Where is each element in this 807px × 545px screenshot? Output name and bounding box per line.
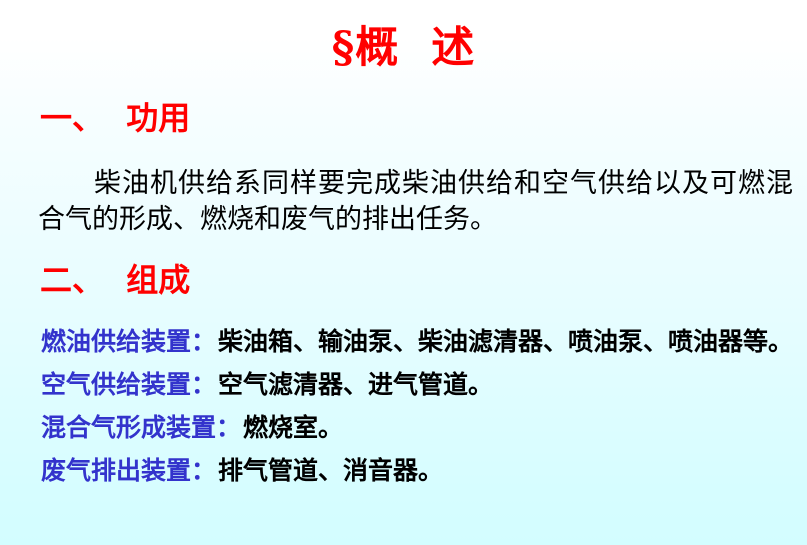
section-heading-function: 一、 功用 [40,101,190,136]
list-item: 燃油供给装置：柴油箱、输油泵、柴油滤清器、喷油泵、喷油器等。 [41,326,799,369]
slide-canvas: §概 述 一、 功用 柴油机供给系同样要完成柴油供给和空气供给以及可燃混合气的形… [0,0,807,545]
component-label-air-supply: 空气供给装置： [41,370,216,399]
section-heading-composition: 二、 组成 [40,263,190,298]
component-value-exhaust-discharge: 排气管道、消音器。 [218,456,443,485]
slide-title: §概 述 [0,26,807,71]
list-item: 空气供给装置：空气滤清器、进气管道。 [41,369,799,412]
component-value-mixture-formation: 燃烧室。 [243,413,343,442]
component-list: 燃油供给装置：柴油箱、输油泵、柴油滤清器、喷油泵、喷油器等。 空气供给装置：空气… [41,326,799,498]
component-label-fuel-supply: 燃油供给装置： [41,327,216,356]
list-item: 废气排出装置：排气管道、消音器。 [41,455,799,498]
list-item: 混合气形成装置：燃烧室。 [41,412,799,455]
function-description-paragraph: 柴油机供给系同样要完成柴油供给和空气供给以及可燃混合气的形成、燃烧和废气的排出任… [38,166,793,237]
component-value-fuel-supply: 柴油箱、输油泵、柴油滤清器、喷油泵、喷油器等。 [218,327,793,356]
component-label-mixture-formation: 混合气形成装置： [41,413,241,442]
component-label-exhaust-discharge: 废气排出装置： [41,456,216,485]
component-value-air-supply: 空气滤清器、进气管道。 [218,370,493,399]
